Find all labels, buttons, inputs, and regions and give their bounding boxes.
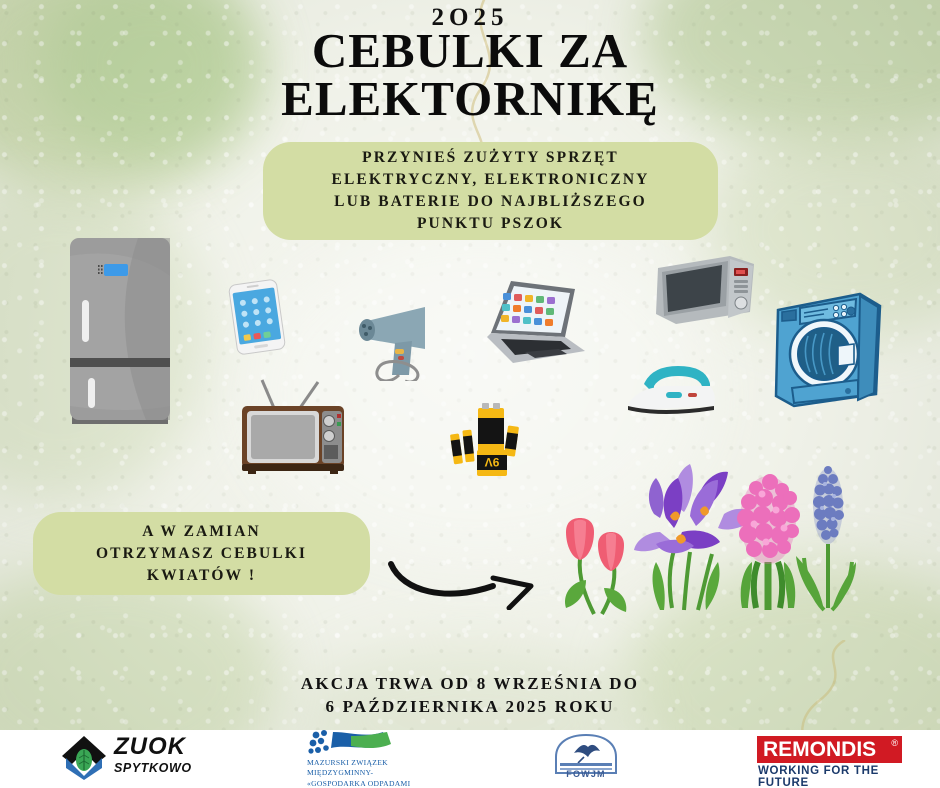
washing-machine-icon xyxy=(772,290,887,408)
remondis-name: REMONDIS xyxy=(763,738,876,761)
poster-title: CEBULKI ZA ELEKTORNIKĘ xyxy=(0,27,940,122)
title-line-1: CEBULKI ZA xyxy=(0,27,940,75)
poster-canvas: 2O25 CEBULKI ZA ELEKTORNIKĘ PRZYNIEŚ ZUŻ… xyxy=(0,0,940,788)
crocus-flower xyxy=(634,464,756,610)
fowjm-wordmark: FOWJM xyxy=(538,769,634,779)
instructions-line-1: PRZYNIEŚ ZUŻYTY SPRZĘT xyxy=(362,147,619,169)
hyacinth-flower xyxy=(737,474,800,610)
mzm-wordmark: MAZURSKI ZWIĄZEK MIĘDZYGMINNY- «GOSPODAR… xyxy=(307,758,410,788)
spring-flowers-illustration xyxy=(556,458,856,618)
hair-dryer-icon xyxy=(337,301,432,381)
mzm-line-3: «GOSPODARKA ODPADAMI xyxy=(307,779,410,788)
zuok-subtitle: SPYTKOWO xyxy=(114,762,192,775)
curved-arrow-icon xyxy=(385,558,545,610)
dates-line-2: 6 PAŹDZIERNIKA 2025 ROKU xyxy=(0,696,940,719)
logo-zuok-spytkowo: ZUOK SPYTKOWO xyxy=(62,734,262,782)
batteries-icon: 9V xyxy=(448,400,533,478)
logo-fowjm: FOWJM xyxy=(538,733,634,785)
refrigerator-icon xyxy=(68,236,172,426)
zuok-wordmark: ZUOK SPYTKOWO xyxy=(114,735,192,775)
laptop-icon xyxy=(473,275,588,370)
instructions-line-3: LUB BATERIE DO NAJBLIŻSZEGO xyxy=(334,191,647,213)
tulip-flower xyxy=(565,518,626,614)
dates-line-1: AKCJA TRWA OD 8 WRZEŚNIA DO xyxy=(0,673,940,696)
logo-remondis: REMONDIS ® WORKING FOR THE FUTURE xyxy=(757,736,902,782)
reward-callout: A W ZAMIAN OTRZYMASZ CEBULKI KWIATÓW ! xyxy=(33,512,370,595)
remondis-tagline: WORKING FOR THE FUTURE xyxy=(758,765,902,788)
smartphone-icon xyxy=(227,278,287,356)
zuok-mark-icon xyxy=(62,736,108,780)
instructions-line-4: PUNKTU PSZOK xyxy=(417,213,564,235)
svg-text:9V: 9V xyxy=(485,455,500,469)
instructions-callout: PRZYNIEŚ ZUŻYTY SPRZĘT ELEKTRYCZNY, ELEK… xyxy=(263,142,718,240)
mzm-line-1: MAZURSKI ZWIĄZEK xyxy=(307,758,410,768)
zuok-name: ZUOK xyxy=(114,735,192,759)
logo-mazurski-zwiazek: MAZURSKI ZWIĄZEK MIĘDZYGMINNY- «GOSPODAR… xyxy=(305,734,485,784)
remondis-registered-mark: ® xyxy=(891,738,898,748)
remondis-red-block: REMONDIS ® xyxy=(757,736,902,763)
title-line-2: ELEKTORNIKĘ xyxy=(0,75,940,123)
reward-line-3: KWIATÓW ! xyxy=(147,565,256,587)
retro-television-icon xyxy=(238,378,348,476)
mzm-line-2: MIĘDZYGMINNY- xyxy=(307,768,410,778)
campaign-dates: AKCJA TRWA OD 8 WRZEŚNIA DO 6 PAŹDZIERNI… xyxy=(0,673,940,719)
muscari-flower xyxy=(796,466,856,610)
microwave-oven-icon xyxy=(652,254,757,330)
instructions-line-2: ELEKTRYCZNY, ELEKTRONICZNY xyxy=(332,169,650,191)
reward-line-1: A W ZAMIAN xyxy=(142,521,261,543)
reward-line-2: OTRZYMASZ CEBULKI xyxy=(96,543,307,565)
clothes-iron-icon xyxy=(622,364,727,420)
